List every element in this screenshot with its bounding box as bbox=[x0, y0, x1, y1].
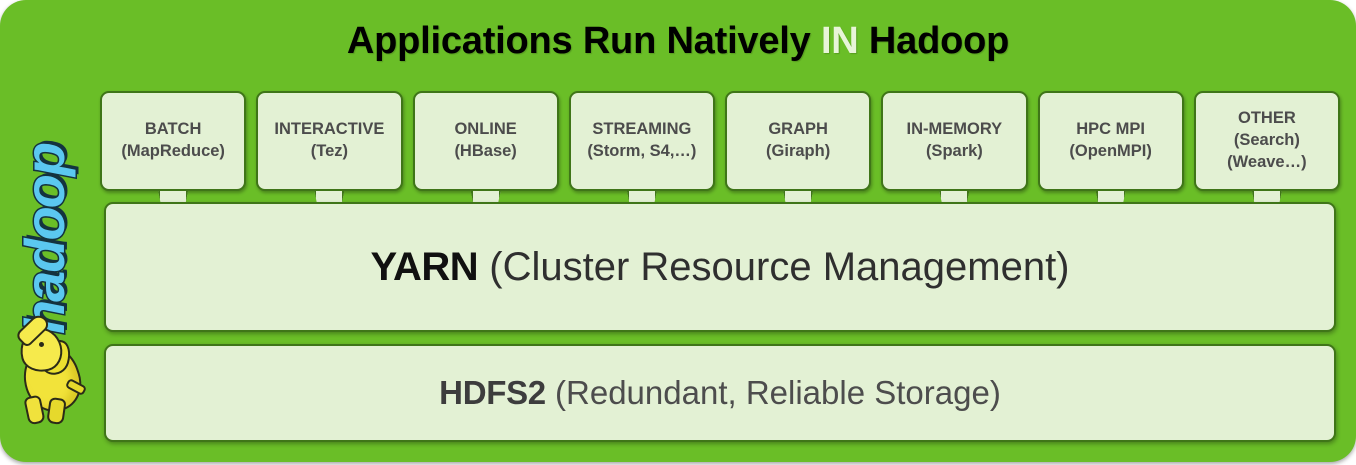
app-name: STREAMING bbox=[587, 119, 696, 141]
title-text-after: Hadoop bbox=[859, 20, 1010, 62]
layer-detail-hdfs: (Redundant, Reliable Storage) bbox=[546, 374, 1001, 411]
app-detail: (Search) bbox=[1227, 130, 1306, 152]
app-label: IN-MEMORY(Spark) bbox=[907, 119, 1003, 163]
app-name: GRAPH bbox=[766, 119, 830, 141]
app-box-in-memory[interactable]: IN-MEMORY(Spark) bbox=[881, 91, 1027, 191]
app-name: HPC MPI bbox=[1069, 119, 1152, 141]
app-label: STREAMING(Storm, S4,…) bbox=[587, 119, 696, 163]
app-label: INTERACTIVE(Tez) bbox=[274, 119, 384, 163]
layer-label-yarn: YARN (Cluster Resource Management) bbox=[370, 245, 1069, 290]
title-text-highlight: IN bbox=[821, 20, 859, 62]
elephant-eye-icon bbox=[39, 342, 44, 347]
app-detail: (MapReduce) bbox=[121, 141, 225, 163]
layer-box-yarn[interactable]: YARN (Cluster Resource Management) bbox=[104, 202, 1336, 332]
layer-label-hdfs: HDFS2 (Redundant, Reliable Storage) bbox=[439, 374, 1001, 412]
diagram-canvas: Applications Run Natively IN Hadoop hado… bbox=[0, 0, 1356, 465]
app-box-streaming[interactable]: STREAMING(Storm, S4,…) bbox=[569, 91, 715, 191]
app-name: IN-MEMORY bbox=[907, 119, 1003, 141]
hadoop-logo: hadoop bbox=[8, 96, 94, 436]
app-detail: (Storm, S4,…) bbox=[587, 141, 696, 163]
app-name: OTHER bbox=[1227, 108, 1306, 130]
layer-name-yarn: YARN bbox=[370, 245, 478, 289]
app-label: HPC MPI(OpenMPI) bbox=[1069, 119, 1152, 163]
app-detail: (HBase) bbox=[454, 141, 516, 163]
app-label: OTHER(Search)(Weave…) bbox=[1227, 108, 1306, 174]
application-layer-row: BATCH(MapReduce)INTERACTIVE(Tez)ONLINE(H… bbox=[100, 91, 1340, 193]
app-detail: (Giraph) bbox=[766, 141, 830, 163]
app-label: ONLINE(HBase) bbox=[454, 119, 516, 163]
app-box-graph[interactable]: GRAPH(Giraph) bbox=[725, 91, 871, 191]
title-text-before: Applications Run Natively bbox=[347, 20, 821, 62]
layer-name-hdfs: HDFS2 bbox=[439, 374, 546, 411]
app-name: INTERACTIVE bbox=[274, 119, 384, 141]
app-label: BATCH(MapReduce) bbox=[121, 119, 225, 163]
page-title: Applications Run Natively IN Hadoop bbox=[0, 20, 1356, 63]
app-detail: (OpenMPI) bbox=[1069, 141, 1152, 163]
app-box-other[interactable]: OTHER(Search)(Weave…) bbox=[1194, 91, 1340, 191]
app-detail-secondary: (Weave…) bbox=[1227, 152, 1306, 174]
app-name: ONLINE bbox=[454, 119, 516, 141]
elephant-back-leg-icon bbox=[46, 397, 66, 425]
layer-box-hdfs[interactable]: HDFS2 (Redundant, Reliable Storage) bbox=[104, 344, 1336, 442]
layer-detail-yarn: (Cluster Resource Management) bbox=[478, 245, 1069, 289]
app-box-interactive[interactable]: INTERACTIVE(Tez) bbox=[256, 91, 402, 191]
app-name: BATCH bbox=[121, 119, 225, 141]
app-detail: (Spark) bbox=[907, 141, 1003, 163]
app-box-batch[interactable]: BATCH(MapReduce) bbox=[100, 91, 246, 191]
app-box-online[interactable]: ONLINE(HBase) bbox=[413, 91, 559, 191]
app-box-hpc-mpi[interactable]: HPC MPI(OpenMPI) bbox=[1038, 91, 1184, 191]
app-label: GRAPH(Giraph) bbox=[766, 119, 830, 163]
app-detail: (Tez) bbox=[274, 141, 384, 163]
